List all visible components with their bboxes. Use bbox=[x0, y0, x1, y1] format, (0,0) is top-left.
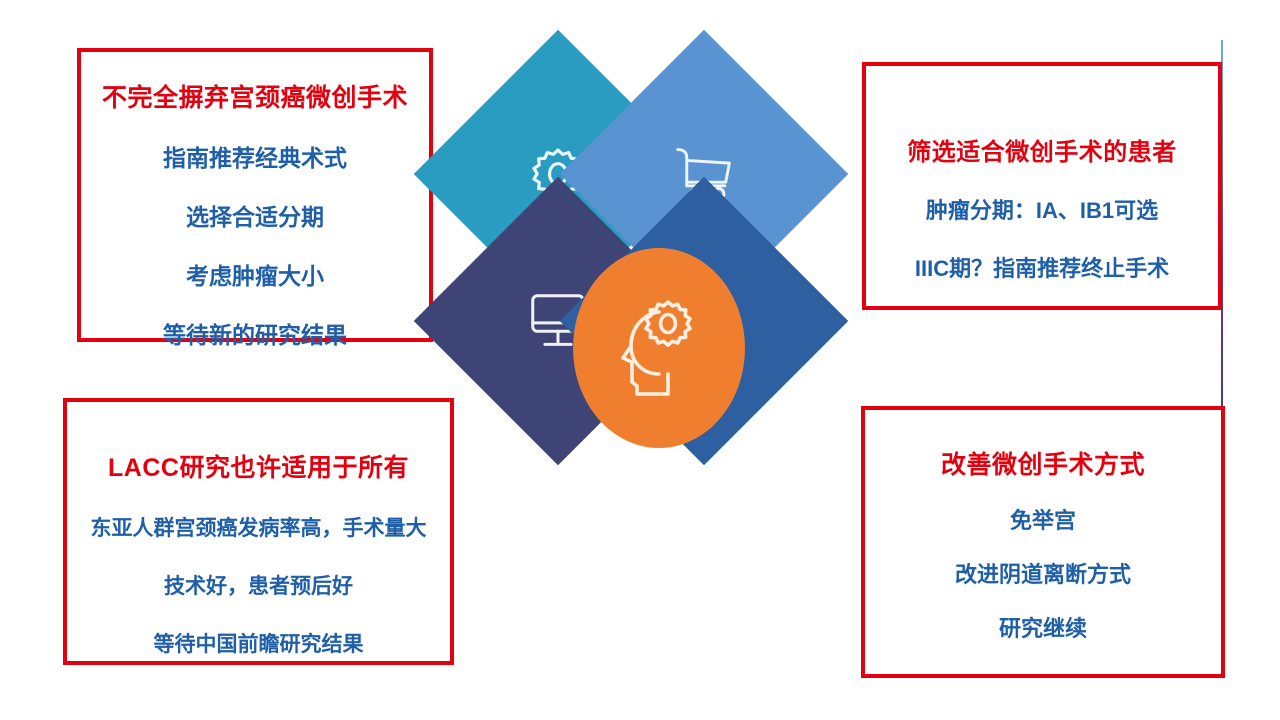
head-with-gear-icon bbox=[613, 296, 705, 400]
callout-line: 技术好，患者预后好 bbox=[164, 570, 353, 600]
callout-line: 选择合适分期 bbox=[186, 198, 324, 232]
callout-title-top-left: 不完全摒弃宫颈癌微创手术 bbox=[102, 78, 408, 114]
callout-line: 免举宫 bbox=[1010, 503, 1076, 535]
callout-box-top-left: 不完全摒弃宫颈癌微创手术 指南推荐经典术式 选择合适分期 考虑肿瘤大小 等待新的… bbox=[77, 48, 433, 342]
callout-box-bottom-right: 改善微创手术方式 免举宫 改进阴道离断方式 研究继续 bbox=[861, 406, 1225, 678]
callout-line: 肿瘤分期：IA、IB1可选 bbox=[926, 193, 1158, 225]
callout-line: 考虑肿瘤大小 bbox=[186, 257, 324, 291]
callout-box-top-right: 筛选适合微创手术的患者 肿瘤分期：IA、IB1可选 IIIC期？指南推荐终止手术 bbox=[862, 62, 1222, 310]
callout-box-bottom-left: LACC研究也许适用于所有 东亚人群宫颈癌发病率高，手术量大 技术好，患者预后好… bbox=[63, 398, 454, 665]
center-hub bbox=[573, 248, 745, 448]
callout-line: 等待中国前瞻研究结果 bbox=[154, 628, 364, 658]
callout-line: IIIC期？指南推荐终止手术 bbox=[915, 251, 1169, 283]
callout-line: 改进阴道离断方式 bbox=[955, 557, 1131, 589]
callout-title-bottom-left: LACC研究也许适用于所有 bbox=[108, 448, 409, 484]
callout-title-top-right: 筛选适合微创手术的患者 bbox=[907, 132, 1177, 167]
callout-line: 等待新的研究结果 bbox=[163, 316, 347, 350]
slide-canvas: 不完全摒弃宫颈癌微创手术 指南推荐经典术式 选择合适分期 考虑肿瘤大小 等待新的… bbox=[0, 0, 1280, 720]
callout-line: 指南推荐经典术式 bbox=[163, 139, 347, 173]
center-diagram bbox=[450, 62, 810, 632]
callout-line: 研究继续 bbox=[999, 611, 1087, 643]
callout-title-bottom-right: 改善微创手术方式 bbox=[941, 445, 1145, 481]
callout-line: 东亚人群宫颈癌发病率高，手术量大 bbox=[91, 512, 427, 542]
